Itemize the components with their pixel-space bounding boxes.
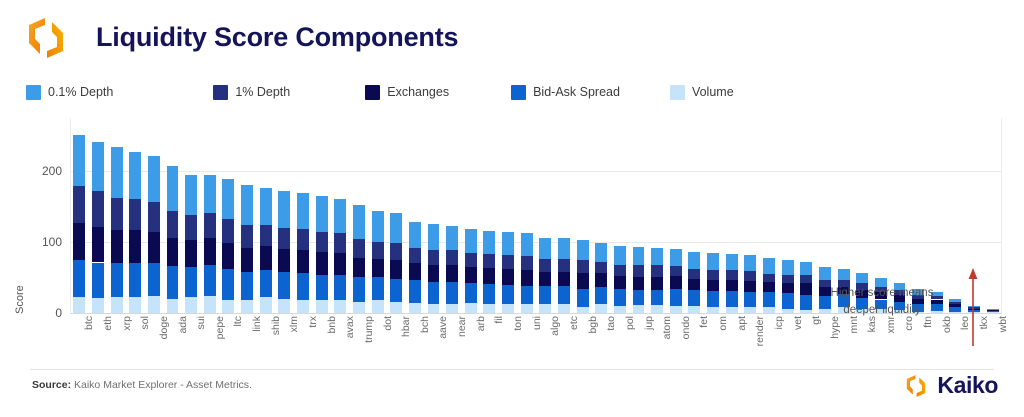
bar-segment[interactable] <box>297 250 309 273</box>
bar-segment[interactable] <box>185 175 197 215</box>
bar-segment[interactable] <box>185 240 197 267</box>
bar-column[interactable] <box>73 135 85 313</box>
bar-segment[interactable] <box>129 263 141 297</box>
bar-segment[interactable] <box>278 249 290 272</box>
bar-segment[interactable] <box>521 256 533 270</box>
bar-segment[interactable] <box>92 298 104 313</box>
x-tick-label: eth <box>102 316 114 331</box>
bar-column[interactable] <box>260 188 272 313</box>
bar-segment[interactable] <box>539 286 551 305</box>
bar-segment[interactable] <box>92 142 104 192</box>
bar-segment[interactable] <box>521 233 533 256</box>
bar-segment[interactable] <box>148 202 160 232</box>
bar-segment[interactable] <box>558 259 570 272</box>
brand-name: Kaiko <box>937 372 998 399</box>
bar-segment[interactable] <box>987 311 999 312</box>
bar-segment[interactable] <box>111 198 123 231</box>
bar-column[interactable] <box>502 232 514 313</box>
bar-segment[interactable] <box>800 283 812 294</box>
bar-column[interactable] <box>409 222 421 313</box>
bar-column[interactable] <box>278 191 290 313</box>
bar-segment[interactable] <box>372 242 384 259</box>
bar-column[interactable] <box>688 252 700 313</box>
bar-column[interactable] <box>800 262 812 313</box>
x-tick-label: atom <box>661 316 673 339</box>
annotation-text: Higher score means deeper liquidity <box>812 285 952 318</box>
bar-segment[interactable] <box>204 175 216 213</box>
bar-column[interactable] <box>595 243 607 313</box>
bar-segment[interactable] <box>800 310 812 313</box>
bar-segment[interactable] <box>334 275 346 301</box>
bar-segment[interactable] <box>670 306 682 313</box>
bar-segment[interactable] <box>428 304 440 313</box>
bar-segment[interactable] <box>465 229 477 253</box>
bar-segment[interactable] <box>651 290 663 306</box>
bar-column[interactable] <box>297 193 309 313</box>
bar-segment[interactable] <box>670 249 682 266</box>
bar-segment[interactable] <box>763 282 775 292</box>
bar-column[interactable] <box>726 254 738 313</box>
bar-segment[interactable] <box>800 262 812 275</box>
bar-segment[interactable] <box>782 309 794 313</box>
bar-segment[interactable] <box>782 283 794 293</box>
bar-column[interactable] <box>316 196 328 313</box>
bar-segment[interactable] <box>409 248 421 264</box>
bar-segment[interactable] <box>92 263 104 299</box>
bar-segment[interactable] <box>73 260 85 297</box>
header: Liquidity Score Components <box>0 0 1024 70</box>
bar-segment[interactable] <box>651 277 663 290</box>
bar-segment[interactable] <box>651 305 663 313</box>
bar-segment[interactable] <box>278 272 290 299</box>
x-tick-label: mnt <box>848 316 860 334</box>
bar-segment[interactable] <box>241 185 253 225</box>
x-tick-label: hype <box>829 316 841 339</box>
bar-segment[interactable] <box>334 233 346 253</box>
bar-segment[interactable] <box>316 275 328 301</box>
legend-item-0-1-depth[interactable]: 0.1% Depth <box>26 85 113 100</box>
bar-segment[interactable] <box>148 263 160 296</box>
bar-column[interactable] <box>465 229 477 313</box>
bar-segment[interactable] <box>763 292 775 306</box>
legend-label: Exchanges <box>387 85 449 99</box>
x-tick-label: ada <box>177 316 189 334</box>
bar-segment[interactable] <box>129 230 141 263</box>
x-tick-label: algo <box>549 316 561 336</box>
x-tick-label: om <box>717 316 729 331</box>
bar-column[interactable] <box>577 240 589 313</box>
bar-segment[interactable] <box>726 280 738 291</box>
bar-segment[interactable] <box>558 272 570 286</box>
bar-segment[interactable] <box>502 232 514 255</box>
bar-segment[interactable] <box>651 248 663 265</box>
bar-column[interactable] <box>614 246 626 313</box>
bar-segment[interactable] <box>129 297 141 313</box>
bar-segment[interactable] <box>726 307 738 313</box>
bar-segment[interactable] <box>577 260 589 273</box>
bar-segment[interactable] <box>278 228 290 249</box>
bar-column[interactable] <box>185 175 197 313</box>
bar-column[interactable] <box>707 253 719 313</box>
bar-segment[interactable] <box>428 250 440 266</box>
x-tick-label: ltc <box>232 316 244 327</box>
bar-segment[interactable] <box>987 310 999 311</box>
bar-segment[interactable] <box>987 309 999 310</box>
bar-segment[interactable] <box>167 266 179 299</box>
bar-segment[interactable] <box>838 269 850 280</box>
bar-segment[interactable] <box>297 273 309 300</box>
bar-segment[interactable] <box>577 273 589 289</box>
bar-segment[interactable] <box>428 265 440 282</box>
bar-segment[interactable] <box>782 275 794 284</box>
bar-segment[interactable] <box>278 299 290 313</box>
bar-segment[interactable] <box>483 284 495 304</box>
x-tick-label: okb <box>941 316 953 333</box>
bar-segment[interactable] <box>595 262 607 273</box>
bar-segment[interactable] <box>521 270 533 286</box>
bar-segment[interactable] <box>744 292 756 306</box>
kaiko-hexagon-icon <box>903 373 929 399</box>
bar-segment[interactable] <box>670 289 682 306</box>
bar-segment[interactable] <box>502 269 514 285</box>
bar-segment[interactable] <box>595 287 607 304</box>
bar-segment[interactable] <box>334 300 346 313</box>
bar-segment[interactable] <box>763 258 775 274</box>
bar-segment[interactable] <box>204 296 216 313</box>
kaiko-hexagon-icon <box>22 14 70 62</box>
bar-segment[interactable] <box>390 260 402 279</box>
bar-column[interactable] <box>633 247 645 313</box>
bar-column[interactable] <box>92 142 104 313</box>
bar-segment[interactable] <box>241 272 253 300</box>
bar-segment[interactable] <box>465 267 477 283</box>
bar-segment[interactable] <box>483 231 495 254</box>
bar-segment[interactable] <box>987 309 999 310</box>
bar-segment[interactable] <box>558 304 570 313</box>
bar-segment[interactable] <box>390 213 402 243</box>
bar-column[interactable] <box>353 205 365 313</box>
bar-column[interactable] <box>390 213 402 313</box>
bar-column[interactable] <box>763 258 775 313</box>
x-tick-label: uni <box>531 316 543 330</box>
bar-segment[interactable] <box>222 179 234 219</box>
bar-segment[interactable] <box>353 302 365 313</box>
bar-segment[interactable] <box>558 238 570 259</box>
bar-segment[interactable] <box>744 255 756 271</box>
bar-column[interactable] <box>129 152 141 313</box>
bar-segment[interactable] <box>744 307 756 313</box>
bar-column[interactable] <box>111 147 123 314</box>
bar-column[interactable] <box>167 166 179 313</box>
bar-segment[interactable] <box>800 295 812 311</box>
bar-segment[interactable] <box>595 304 607 313</box>
bar-segment[interactable] <box>129 152 141 199</box>
bar-segment[interactable] <box>782 260 794 274</box>
bar-segment[interactable] <box>428 282 440 303</box>
bar-segment[interactable] <box>539 238 551 259</box>
bar-segment[interactable] <box>502 285 514 305</box>
bar-segment[interactable] <box>707 291 719 307</box>
bar-segment[interactable] <box>577 307 589 313</box>
bar-segment[interactable] <box>372 211 384 242</box>
bar-segment[interactable] <box>353 239 365 258</box>
legend-label: Bid-Ask Spread <box>533 85 620 99</box>
bar-segment[interactable] <box>707 280 719 291</box>
bar-segment[interactable] <box>688 252 700 269</box>
bar-segment[interactable] <box>372 259 384 278</box>
x-tick-label: shib <box>270 316 282 335</box>
bar-segment[interactable] <box>614 306 626 313</box>
bar-segment[interactable] <box>372 300 384 313</box>
bar-segment[interactable] <box>185 297 197 313</box>
x-tick-label: link <box>251 316 263 332</box>
bar-segment[interactable] <box>222 219 234 243</box>
bar-segment[interactable] <box>278 191 290 228</box>
bar-segment[interactable] <box>241 225 253 248</box>
bar-column[interactable] <box>334 199 346 313</box>
bar-segment[interactable] <box>688 269 700 279</box>
bar-segment[interactable] <box>353 205 365 239</box>
bar-segment[interactable] <box>633 290 645 306</box>
bar-segment[interactable] <box>390 279 402 302</box>
bar-segment[interactable] <box>465 283 477 303</box>
bar-segment[interactable] <box>409 222 421 248</box>
bar-segment[interactable] <box>707 270 719 280</box>
legend-swatch <box>213 85 228 100</box>
bar-segment[interactable] <box>465 253 477 267</box>
bar-segment[interactable] <box>111 263 123 297</box>
bar-column[interactable] <box>204 175 216 313</box>
bar-column[interactable] <box>372 211 384 313</box>
bar-segment[interactable] <box>241 300 253 313</box>
x-tick-label: bch <box>419 316 431 333</box>
bar-segment[interactable] <box>595 273 607 287</box>
bar-segment[interactable] <box>73 135 85 186</box>
bar-segment[interactable] <box>819 267 831 280</box>
x-tick-label: fil <box>493 316 505 324</box>
legend-item-1-depth[interactable]: 1% Depth <box>213 85 290 100</box>
bar-segment[interactable] <box>502 304 514 313</box>
x-tick-label: render <box>754 316 766 346</box>
bar-segment[interactable] <box>539 272 551 286</box>
bar-segment[interactable] <box>316 252 328 275</box>
x-tick-label: tao <box>605 316 617 331</box>
bar-segment[interactable] <box>316 196 328 232</box>
bar-column[interactable] <box>521 233 533 313</box>
bar-segment[interactable] <box>688 290 700 306</box>
bar-segment[interactable] <box>465 303 477 313</box>
bar-column[interactable] <box>222 179 234 313</box>
bar-segment[interactable] <box>763 274 775 283</box>
bar-segment[interactable] <box>726 254 738 270</box>
bar-segment[interactable] <box>241 248 253 272</box>
bar-segment[interactable] <box>744 271 756 281</box>
bar-segment[interactable] <box>167 299 179 313</box>
bar-segment[interactable] <box>483 268 495 284</box>
bar-column[interactable] <box>782 260 794 313</box>
bar-segment[interactable] <box>409 280 421 303</box>
bar-segment[interactable] <box>446 226 458 250</box>
bar-segment[interactable] <box>726 270 738 280</box>
bar-segment[interactable] <box>260 297 272 313</box>
bar-segment[interactable] <box>204 265 216 296</box>
x-tick-label: kas <box>866 316 878 332</box>
bar-segment[interactable] <box>297 229 309 250</box>
bar-segment[interactable] <box>316 300 328 313</box>
bar-segment[interactable] <box>204 213 216 237</box>
x-tick-label: dot <box>382 316 394 331</box>
legend-swatch <box>670 85 685 100</box>
bar-segment[interactable] <box>148 156 160 202</box>
bar-segment[interactable] <box>446 304 458 313</box>
bar-segment[interactable] <box>111 297 123 313</box>
bar-segment[interactable] <box>763 307 775 313</box>
y-tick-label: 200 <box>42 164 62 178</box>
bar-segment[interactable] <box>670 276 682 289</box>
x-tick-label: pepe <box>214 316 226 339</box>
bar-segment[interactable] <box>409 263 421 280</box>
bar-segment[interactable] <box>558 286 570 305</box>
bar-segment[interactable] <box>167 238 179 266</box>
bar-column[interactable] <box>987 309 999 313</box>
bar-segment[interactable] <box>614 289 626 306</box>
bar-segment[interactable] <box>688 279 700 290</box>
page-title: Liquidity Score Components <box>96 22 458 53</box>
bar-segment[interactable] <box>502 255 514 269</box>
bar-segment[interactable] <box>614 276 626 289</box>
bar-segment[interactable] <box>297 300 309 313</box>
bar-segment[interactable] <box>148 232 160 263</box>
bar-segment[interactable] <box>707 307 719 313</box>
bar-segment[interactable] <box>73 186 85 223</box>
x-tick-label: apt <box>736 316 748 331</box>
bar-segment[interactable] <box>614 265 626 276</box>
bar-segment[interactable] <box>353 277 365 301</box>
bar-segment[interactable] <box>633 305 645 313</box>
legend-item-exchanges[interactable]: Exchanges <box>365 85 449 100</box>
bar-segment[interactable] <box>111 230 123 263</box>
bar-column[interactable] <box>483 231 495 313</box>
bar-segment[interactable] <box>260 270 272 297</box>
bar-column[interactable] <box>428 224 440 313</box>
bar-segment[interactable] <box>521 304 533 313</box>
bar-segment[interactable] <box>688 306 700 313</box>
bar-segment[interactable] <box>334 199 346 233</box>
bar-segment[interactable] <box>260 188 272 225</box>
bar-segment[interactable] <box>148 296 160 313</box>
bar-segment[interactable] <box>521 286 533 305</box>
bar-segment[interactable] <box>670 266 682 276</box>
bar-segment[interactable] <box>334 253 346 274</box>
bar-column[interactable] <box>241 185 253 313</box>
x-tick-label: cro <box>903 316 915 331</box>
bar-segment[interactable] <box>539 259 551 272</box>
bar-segment[interactable] <box>92 191 104 227</box>
bar-segment[interactable] <box>782 293 794 309</box>
bar-segment[interactable] <box>73 223 85 260</box>
bar-segment[interactable] <box>297 193 309 229</box>
bar-segment[interactable] <box>222 269 234 300</box>
source-label: Source: <box>32 379 71 391</box>
bar-segment[interactable] <box>316 232 328 252</box>
legend-item-bid-ask-spread[interactable]: Bid-Ask Spread <box>511 85 620 100</box>
bar-segment[interactable] <box>428 224 440 250</box>
bar-segment[interactable] <box>390 243 402 260</box>
bar-segment[interactable] <box>633 277 645 290</box>
bar-column[interactable] <box>651 248 663 313</box>
bar-segment[interactable] <box>577 240 589 260</box>
x-tick-label: hbar <box>400 316 412 337</box>
bar-column[interactable] <box>558 238 570 313</box>
bar-segment[interactable] <box>800 275 812 284</box>
bar-segment[interactable] <box>595 243 607 262</box>
bar-segment[interactable] <box>222 243 234 269</box>
legend-item-volume[interactable]: Volume <box>670 85 734 100</box>
bar-segment[interactable] <box>651 265 663 276</box>
bar-segment[interactable] <box>483 304 495 313</box>
x-tick-label: avax <box>344 316 356 338</box>
y-axis-ticks: 0100200 <box>0 118 62 314</box>
x-tick-label: trx <box>307 316 319 328</box>
bar-segment[interactable] <box>222 300 234 313</box>
bar-segment[interactable] <box>260 246 272 270</box>
bar-segment[interactable] <box>204 238 216 265</box>
bar-segment[interactable] <box>633 265 645 276</box>
legend-swatch <box>511 85 526 100</box>
bar-segment[interactable] <box>987 312 999 313</box>
bar-segment[interactable] <box>446 282 458 303</box>
bar-segment[interactable] <box>539 304 551 313</box>
x-tick-label: bgb <box>587 316 599 334</box>
bar-segment[interactable] <box>726 291 738 307</box>
bar-segment[interactable] <box>483 254 495 268</box>
bar-segment[interactable] <box>446 265 458 282</box>
bar-segment[interactable] <box>353 258 365 278</box>
bar-segment[interactable] <box>614 246 626 265</box>
bar-segment[interactable] <box>167 166 179 210</box>
x-tick-label: vet <box>792 316 804 330</box>
legend-swatch <box>365 85 380 100</box>
bar-segment[interactable] <box>260 225 272 246</box>
bar-column[interactable] <box>744 255 756 313</box>
bar-segment[interactable] <box>744 281 756 292</box>
bar-segment[interactable] <box>856 273 868 283</box>
x-tick-label: ondo <box>680 316 692 339</box>
bar-column[interactable] <box>670 249 682 313</box>
bar-segment[interactable] <box>185 215 197 241</box>
plot-area: Score 0100200 Higher score means deeper … <box>0 118 1024 314</box>
bar-segment[interactable] <box>409 303 421 313</box>
chart-page: Liquidity Score Components 0.1% Depth1% … <box>0 0 1024 417</box>
bar-segment[interactable] <box>111 147 123 198</box>
bar-column[interactable] <box>446 225 458 313</box>
bar-segment[interactable] <box>707 253 719 270</box>
bar-segment[interactable] <box>577 289 589 308</box>
bar-segment[interactable] <box>129 199 141 230</box>
bar-segment[interactable] <box>185 267 197 297</box>
bar-segment[interactable] <box>390 302 402 313</box>
bar-segment[interactable] <box>633 247 645 266</box>
bar-segment[interactable] <box>446 250 458 266</box>
bar-column[interactable] <box>148 156 160 313</box>
bar-column[interactable] <box>539 238 551 313</box>
bar-segment[interactable] <box>167 211 179 238</box>
x-tick-label: leo <box>959 316 971 330</box>
bar-segment[interactable] <box>372 277 384 300</box>
bar-segment[interactable] <box>92 227 104 263</box>
bar-segment[interactable] <box>73 297 85 313</box>
x-tick-label: xlm <box>288 316 300 332</box>
